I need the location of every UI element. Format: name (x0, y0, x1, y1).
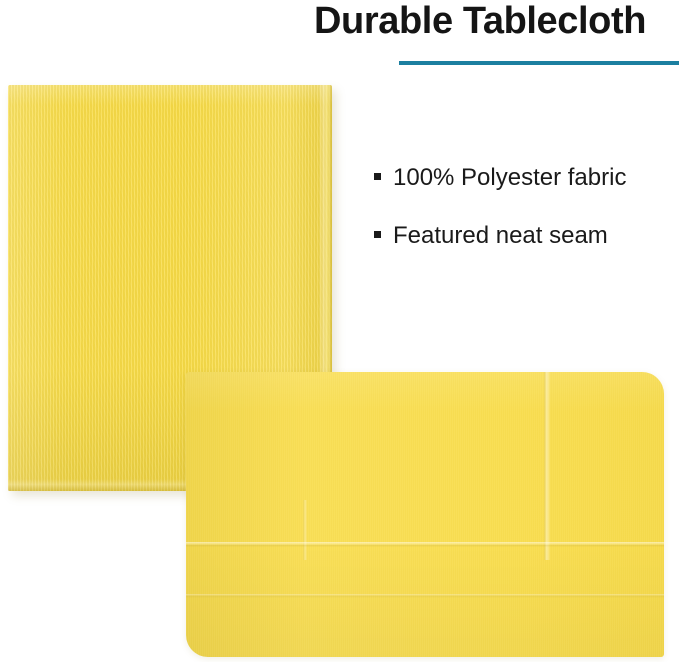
spread-tablecloth-image (186, 372, 664, 657)
square-bullet-icon (374, 173, 381, 180)
tablecloth-hem-seam (186, 542, 664, 547)
tablecloth-weave-texture (186, 372, 664, 657)
title-divider-rule (399, 61, 679, 65)
list-item: 100% Polyester fabric (374, 164, 674, 192)
feature-label-seam: Featured neat seam (393, 222, 608, 250)
feature-label-polyester: 100% Polyester fabric (393, 164, 626, 192)
tablecloth-vertical-seam-secondary (303, 500, 307, 560)
list-item: Featured neat seam (374, 222, 674, 250)
page-title: Durable Tablecloth (314, 0, 679, 44)
product-infographic-page: Durable Tablecloth 100% Polyester fabric… (0, 0, 679, 662)
square-bullet-icon (374, 231, 381, 238)
tablecloth-hem-seam-lower (186, 594, 664, 598)
feature-list: 100% Polyester fabric Featured neat seam (374, 164, 674, 280)
tablecloth-vertical-seam (544, 372, 550, 560)
